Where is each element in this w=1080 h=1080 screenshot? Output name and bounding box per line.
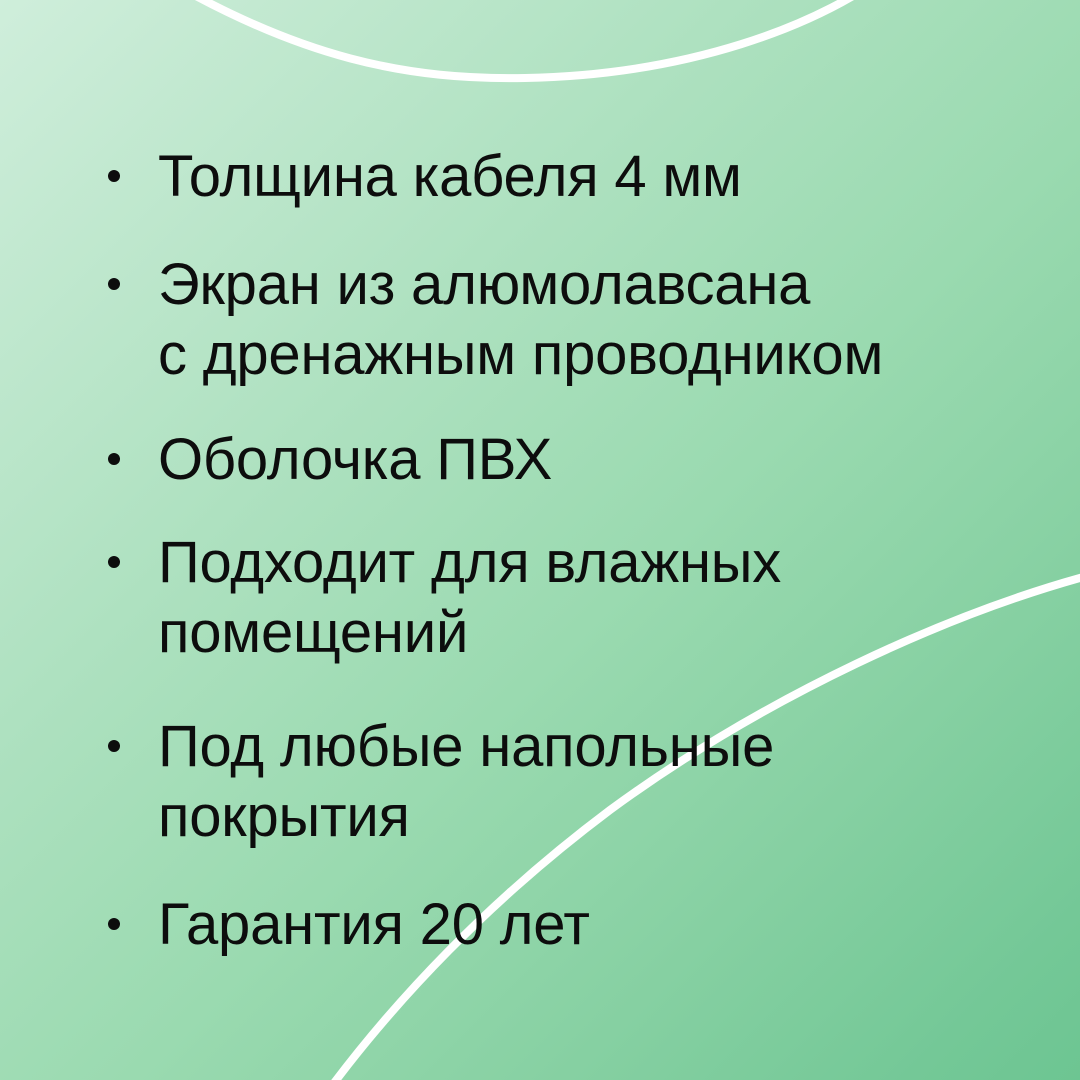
list-item-label: Экран из алюмолавсана с дренажным провод…: [158, 250, 1040, 390]
bullet-dot-icon: [108, 918, 120, 930]
bullet-dot-icon: [108, 556, 120, 568]
list-item: Оболочка ПВХ: [108, 425, 1040, 495]
feature-bullet-list: Толщина кабеля 4 мм Экран из алюмолавсан…: [0, 0, 1080, 1080]
list-item: Гарантия 20 лет: [108, 890, 1040, 960]
list-item: Подходит для влажных помещений: [108, 528, 1040, 668]
list-item-label: Подходит для влажных помещений: [158, 528, 1040, 668]
list-item-label: Оболочка ПВХ: [158, 425, 1040, 495]
bullet-dot-icon: [108, 740, 120, 752]
list-item: Толщина кабеля 4 мм: [108, 142, 1040, 212]
list-item: Экран из алюмолавсана с дренажным провод…: [108, 250, 1040, 390]
bullet-dot-icon: [108, 278, 120, 290]
bullet-dot-icon: [108, 170, 120, 182]
feature-list-card: Толщина кабеля 4 мм Экран из алюмолавсан…: [0, 0, 1080, 1080]
bullet-dot-icon: [108, 453, 120, 465]
list-item-label: Толщина кабеля 4 мм: [158, 142, 1040, 212]
list-item: Под любые напольные покрытия: [108, 712, 1040, 852]
list-item-label: Гарантия 20 лет: [158, 890, 1040, 960]
list-item-label: Под любые напольные покрытия: [158, 712, 1040, 852]
